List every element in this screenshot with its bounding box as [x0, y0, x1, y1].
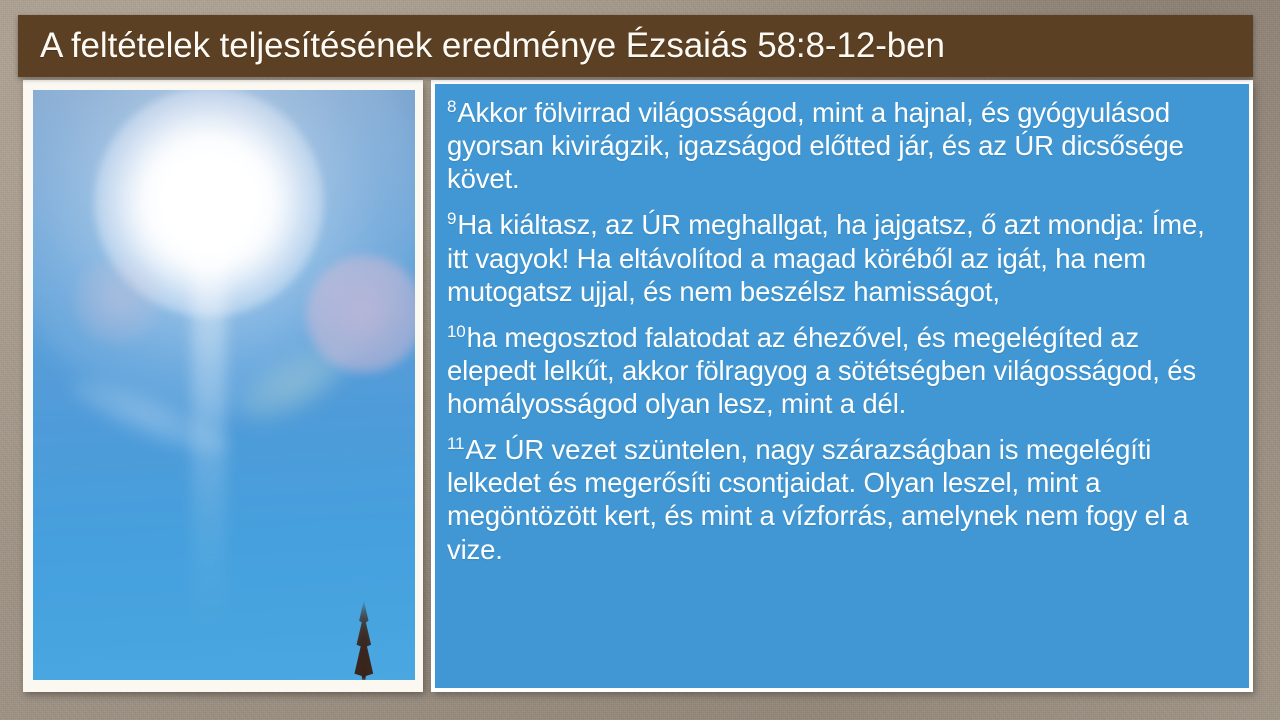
tree-silhouette-icon [351, 600, 377, 680]
verse-paragraph: 9Ha kiáltasz, az ÚR meghallgat, ha jajga… [447, 208, 1231, 307]
verse-text: Az ÚR vezet szüntelen, nagy szárazságban… [447, 434, 1188, 564]
verse-text: Akkor fölvirrad világosságod, mint a haj… [447, 97, 1184, 194]
verse-paragraph: 11Az ÚR vezet szüntelen, nagy szárazságb… [447, 433, 1231, 566]
page-title: A feltételek teljesítésének eredménye Éz… [40, 26, 945, 66]
verse-paragraph: 8Akkor fölvirrad világosságod, mint a ha… [447, 96, 1231, 195]
verse-paragraph: 10ha megosztod falatodat az éhezővel, és… [447, 321, 1231, 420]
verse-number: 11 [447, 434, 465, 453]
verse-text: Ha kiáltasz, az ÚR meghallgat, ha jajgat… [447, 209, 1205, 306]
scripture-text-panel: 8Akkor fölvirrad világosságod, mint a ha… [431, 80, 1253, 692]
verse-number: 10 [447, 322, 467, 341]
verse-number: 8 [447, 97, 457, 116]
photo-frame [23, 80, 423, 692]
lens-flare-small-icon [74, 259, 160, 345]
title-banner: A feltételek teljesítésének eredménye Éz… [18, 15, 1253, 77]
lens-flare-pink-icon [306, 255, 415, 373]
verse-text: ha megosztod falatodat az éhezővel, és m… [447, 322, 1196, 419]
sun-sky-photo [33, 90, 415, 680]
verse-number: 9 [447, 209, 457, 228]
